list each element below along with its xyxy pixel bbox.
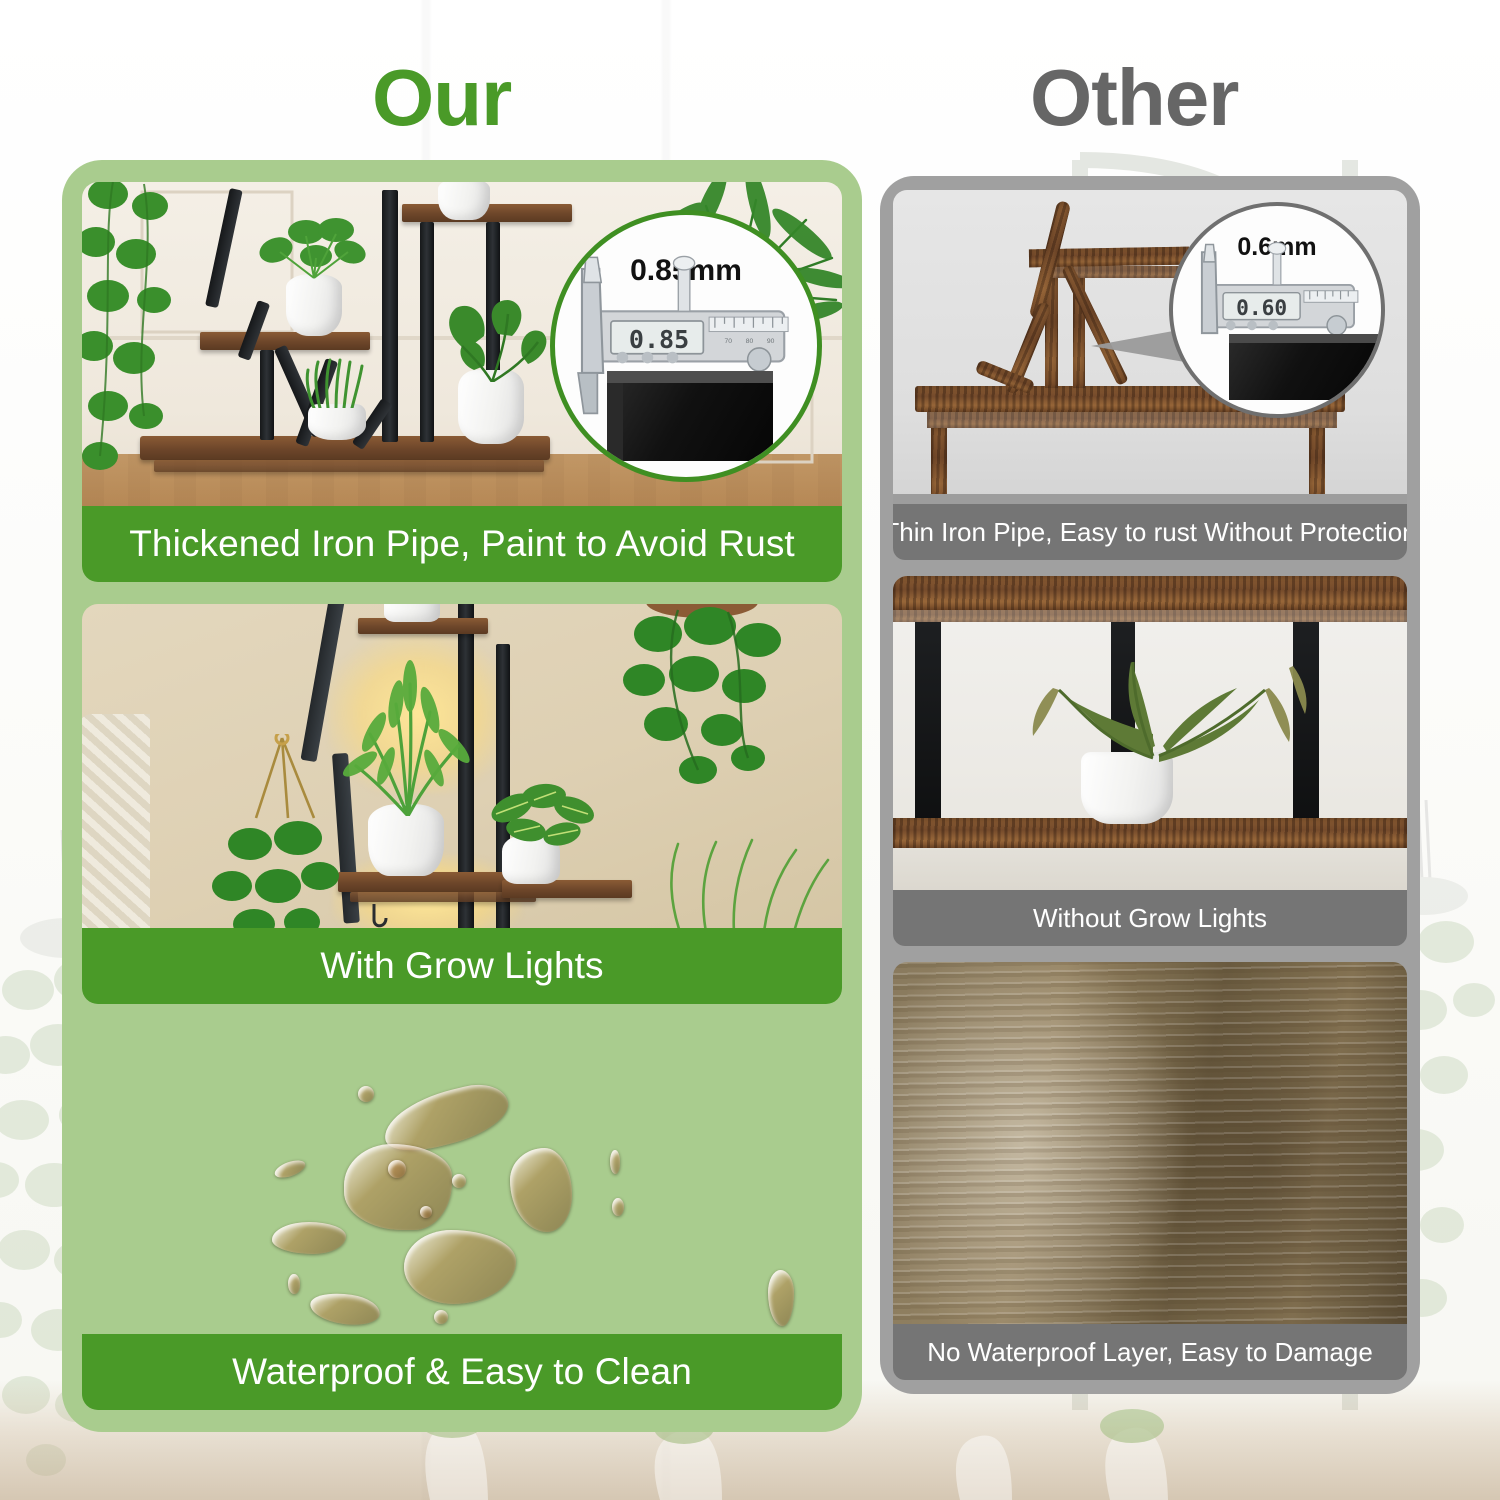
our-row-3-photo [82,1026,842,1334]
pilea-plant-icon [250,216,380,280]
other-scene-rusty-stand: 0.6mm 0.60 [893,190,1407,504]
our-row-1-photo: 0.85mm 0.85 708090 [82,182,842,506]
other-comparison-panel: 0.6mm 0.60 [880,176,1420,1394]
water-droplet [288,1274,300,1294]
shelf-hook-icon [354,904,394,928]
water-droplet [358,1086,374,1102]
grass-background-icon [660,832,830,928]
grass-plant-icon [300,358,376,408]
water-droplet [344,1144,452,1230]
our-row-2: With Grow Lights [82,604,842,1004]
our-scene-plant-stand: 0.85mm 0.85 708090 [82,182,842,506]
svg-text:70: 70 [725,338,733,345]
other-row-3-photo [893,962,1407,1324]
sofa-background [82,714,150,928]
hanging-chain-plant-icon [202,734,372,928]
other-scene-no-grow-lights [893,576,1407,890]
other-row-1-photo: 0.6mm 0.60 [893,190,1407,504]
our-caption-1: Thickened Iron Pipe, Paint to Avoid Rust [82,506,842,582]
our-row-3: Waterproof & Easy to Clean [82,1026,842,1410]
water-droplet [272,1222,346,1254]
svg-text:0.60: 0.60 [1236,295,1287,320]
headings-row: Our Other [0,58,1500,168]
pipe-cross-section [607,371,773,461]
our-scene-waterproof-wood [82,1026,842,1334]
hanging-pothos-icon [82,182,204,476]
hanging-pothos-icon [598,604,808,790]
our-comparison-panel: 0.85mm 0.85 708090 [62,160,862,1432]
other-row-1: 0.6mm 0.60 [893,190,1407,560]
our-row-2-photo [82,604,842,928]
svg-text:80: 80 [746,338,754,345]
other-caliper-callout: 0.6mm 0.60 [1169,202,1385,418]
water-droplet [420,1206,432,1218]
other-row-2-photo [893,576,1407,890]
our-scene-grow-lights [82,604,842,928]
other-row-2: Without Grow Lights [893,576,1407,946]
wilted-plant-icon [993,638,1323,778]
monstera-plant-icon [426,294,566,382]
water-droplet [612,1198,624,1216]
water-droplet [434,1310,448,1324]
other-caption-3: No Waterproof Layer, Easy to Damage [893,1324,1407,1380]
other-scene-damaged-wood [893,962,1407,1324]
pipe-cross-section [1229,334,1379,400]
our-caliper-callout: 0.85mm 0.85 708090 [550,210,822,482]
other-caption-2: Without Grow Lights [893,890,1407,946]
heading-other: Other [1030,58,1238,138]
heading-our: Our [372,58,511,138]
calathea-plant-icon [482,780,602,850]
water-droplet [388,1160,406,1178]
our-caption-2: With Grow Lights [82,928,842,1004]
svg-text:90: 90 [767,338,775,345]
svg-text:0.85: 0.85 [629,325,689,354]
other-row-3: No Waterproof Layer, Easy to Damage [893,962,1407,1380]
other-caption-1: Thin Iron Pipe, Easy to rust Without Pro… [893,504,1407,560]
water-droplet [452,1174,466,1188]
our-caption-3: Waterproof & Easy to Clean [82,1334,842,1410]
our-row-1: 0.85mm 0.85 708090 [82,182,842,582]
water-droplet [610,1150,620,1174]
